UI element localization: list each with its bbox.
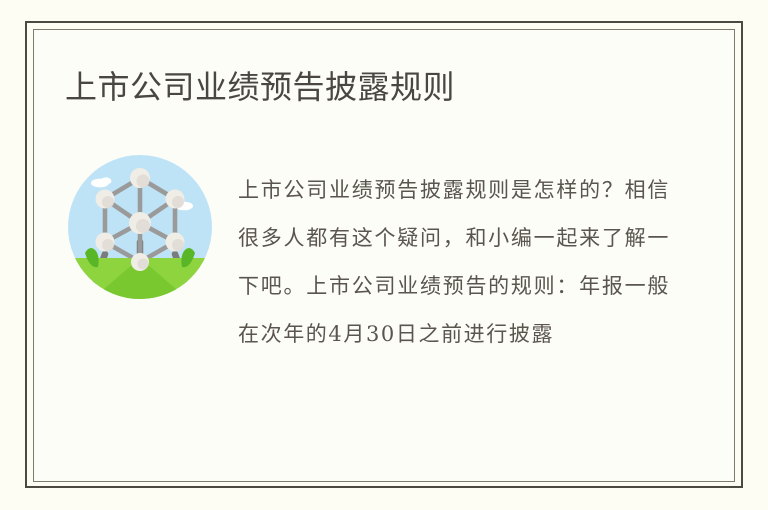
card-outer-border: 上市公司业绩预告披露规则	[25, 21, 743, 488]
article-page: 上市公司业绩预告披露规则	[0, 0, 768, 510]
page-title: 上市公司业绩预告披露规则	[65, 69, 455, 107]
card-inner-border: 上市公司业绩预告披露规则	[33, 29, 735, 482]
atomium-landmark-illustration	[67, 154, 213, 300]
article-body-text: 上市公司业绩预告披露规则是怎样的？相信很多人都有这个疑问，和小编一起来了解一下吧…	[238, 166, 670, 358]
